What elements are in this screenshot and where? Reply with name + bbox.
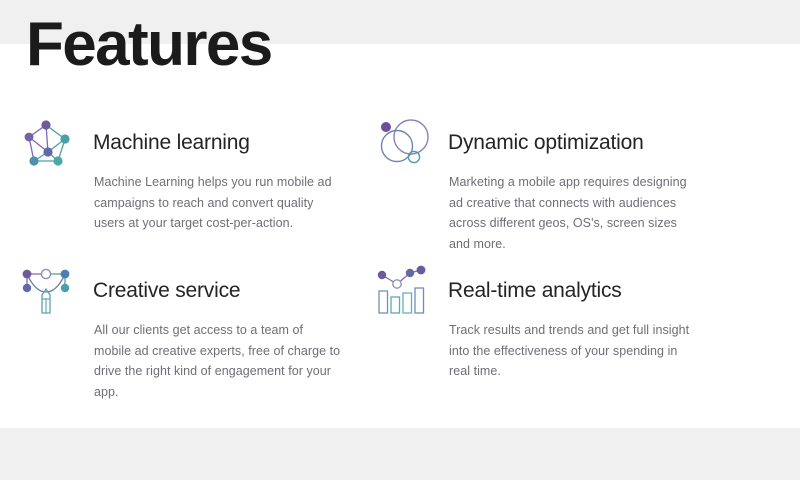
feature-body: All our clients get access to a team of … xyxy=(94,320,342,402)
pen-tool-pencil-icon xyxy=(18,262,78,322)
feature-card-creative-service: Creative service All our clients get acc… xyxy=(18,258,373,406)
feature-body: Marketing a mobile app requires designin… xyxy=(449,172,694,254)
feature-card-real-time-analytics: Real-time analytics Track results and tr… xyxy=(373,258,728,406)
features-grid: Machine learning Machine Learning helps … xyxy=(0,110,800,406)
page-title: Features xyxy=(26,7,272,83)
feature-heading: Machine learning xyxy=(93,130,250,156)
bottom-background-band xyxy=(0,428,800,480)
feature-heading: Dynamic optimization xyxy=(448,130,644,156)
bar-chart-trendline-icon xyxy=(373,262,433,322)
feature-body: Track results and trends and get full in… xyxy=(449,320,694,382)
feature-heading: Real-time analytics xyxy=(448,278,622,304)
overlapping-circles-icon xyxy=(373,114,433,174)
feature-card-dynamic-optimization: Dynamic optimization Marketing a mobile … xyxy=(373,110,728,258)
feature-body: Machine Learning helps you run mobile ad… xyxy=(94,172,342,234)
feature-heading: Creative service xyxy=(93,278,240,304)
network-graph-icon xyxy=(18,114,78,174)
feature-card-machine-learning: Machine learning Machine Learning helps … xyxy=(18,110,373,258)
